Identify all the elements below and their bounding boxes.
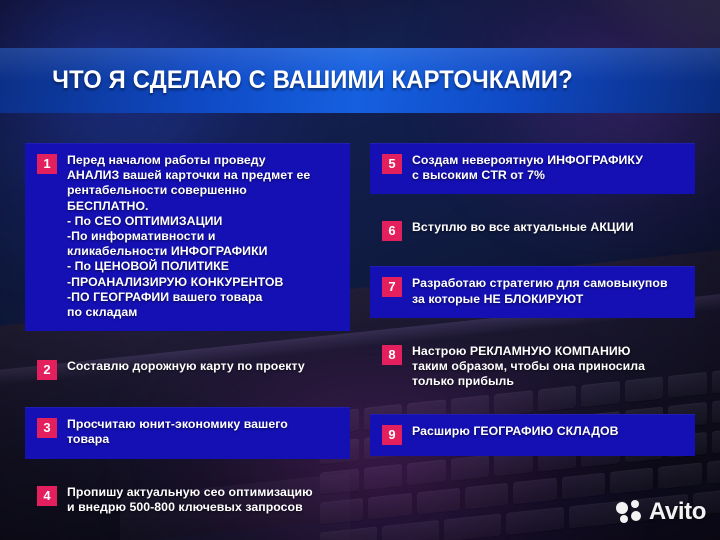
item-number-badge: 1	[37, 154, 57, 174]
title-banner: ЧТО Я СДЕЛАЮ С ВАШИМИ КАРТОЧКАМИ?	[0, 48, 720, 113]
item-text: Просчитаю юнит-экономику вашего товара	[67, 417, 288, 447]
item-text: Настрою РЕКЛАМНУЮ КОМПАНИЮ таким образом…	[412, 344, 645, 390]
list-item[interactable]: 4 Пропишу актуальную сео оптимизацию и в…	[25, 475, 350, 526]
list-item[interactable]: 5 Создам невероятную ИНФОГРАФИКУ с высок…	[370, 143, 695, 194]
item-number-badge: 4	[37, 486, 57, 506]
item-number-badge: 3	[37, 418, 57, 438]
item-text: Расширю ГЕОГРАФИЮ СКЛАДОВ	[412, 424, 619, 439]
item-text: Пропишу актуальную сео оптимизацию и вне…	[67, 485, 313, 515]
list-item[interactable]: 8 Настрою РЕКЛАМНУЮ КОМПАНИЮ таким образ…	[370, 334, 695, 401]
avito-watermark: Avito	[616, 498, 706, 526]
item-number-badge: 6	[382, 221, 402, 241]
item-number-badge: 9	[382, 425, 402, 445]
item-text: Перед началом работы проведу АНАЛИЗ ваше…	[67, 153, 310, 320]
list-item[interactable]: 2 Составлю дорожную карту по проекту	[25, 349, 350, 391]
item-number-badge: 5	[382, 154, 402, 174]
right-column: 5 Создам невероятную ИНФОГРАФИКУ с высок…	[370, 143, 695, 465]
item-number-badge: 7	[382, 277, 402, 297]
avito-dots-icon	[616, 500, 642, 524]
page-title: ЧТО Я СДЕЛАЮ С ВАШИМИ КАРТОЧКАМИ?	[0, 66, 573, 95]
item-text: Составлю дорожную карту по проекту	[67, 359, 305, 374]
list-item[interactable]: 9 Расширю ГЕОГРАФИЮ СКЛАДОВ	[370, 414, 695, 456]
list-item[interactable]: 7 Разработаю стратегию для самовыкупов з…	[370, 266, 695, 317]
item-text: Разработаю стратегию для самовыкупов за …	[412, 276, 668, 306]
list-item[interactable]: 3 Просчитаю юнит-экономику вашего товара	[25, 407, 350, 458]
item-text: Вступлю во все актуальные АКЦИИ	[412, 220, 634, 235]
item-number-badge: 8	[382, 345, 402, 365]
avito-brand-text: Avito	[649, 498, 706, 526]
left-column: 1 Перед началом работы проведу АНАЛИЗ ва…	[25, 143, 350, 535]
list-item[interactable]: 1 Перед началом работы проведу АНАЛИЗ ва…	[25, 143, 350, 331]
item-number-badge: 2	[37, 360, 57, 380]
list-item[interactable]: 6 Вступлю во все актуальные АКЦИИ	[370, 210, 695, 252]
item-text: Создам невероятную ИНФОГРАФИКУ с высоким…	[412, 153, 643, 183]
